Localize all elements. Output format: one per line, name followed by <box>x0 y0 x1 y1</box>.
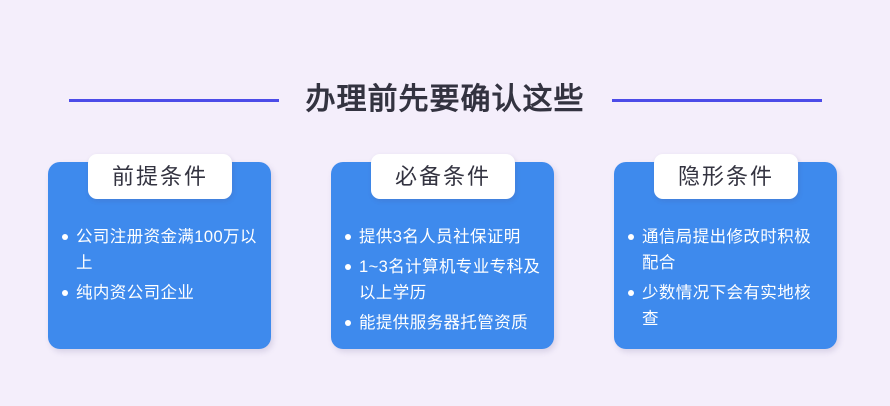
list-item-text: 少数情况下会有实地核查 <box>642 284 811 328</box>
bullet-dot-icon <box>62 290 68 296</box>
condition-card-1: 前提条件 公司注册资金满100万以上 纯内资公司企业 <box>48 162 271 349</box>
card-badge-label: 必备条件 <box>395 166 491 188</box>
list-item: 通信局提出修改时积极配合 <box>628 224 827 276</box>
card-badge-3: 隐形条件 <box>654 154 798 199</box>
condition-card-3: 隐形条件 通信局提出修改时积极配合 少数情况下会有实地核查 <box>614 162 837 349</box>
card-bullet-list-2: 提供3名人员社保证明 1~3名计算机专业专科及以上学历 能提供服务器托管资质 <box>345 224 544 340</box>
title-rule-right <box>612 99 822 102</box>
list-item: 1~3名计算机专业专科及以上学历 <box>345 254 544 306</box>
list-item-text: 1~3名计算机专业专科及以上学历 <box>359 258 540 302</box>
list-item-text: 纯内资公司企业 <box>76 284 194 302</box>
list-item: 纯内资公司企业 <box>62 280 261 306</box>
bullet-dot-icon <box>345 264 351 270</box>
page-title: 办理前先要确认这些 <box>306 85 585 115</box>
card-bullet-list-1: 公司注册资金满100万以上 纯内资公司企业 <box>62 224 261 310</box>
card-badge-label: 隐形条件 <box>678 166 774 188</box>
list-item: 少数情况下会有实地核查 <box>628 280 827 332</box>
list-item-text: 通信局提出修改时积极配合 <box>642 228 811 272</box>
bullet-dot-icon <box>345 320 351 326</box>
bullet-dot-icon <box>62 234 68 240</box>
card-badge-1: 前提条件 <box>88 154 232 199</box>
card-bullet-list-3: 通信局提出修改时积极配合 少数情况下会有实地核查 <box>628 224 827 336</box>
list-item-text: 提供3名人员社保证明 <box>359 228 521 246</box>
condition-card-group: 前提条件 公司注册资金满100万以上 纯内资公司企业 必备条件 <box>48 162 837 349</box>
condition-card-2: 必备条件 提供3名人员社保证明 1~3名计算机专业专科及以上学历 能提供服务器托… <box>331 162 554 349</box>
list-item: 能提供服务器托管资质 <box>345 310 544 336</box>
card-badge-2: 必备条件 <box>371 154 515 199</box>
list-item: 提供3名人员社保证明 <box>345 224 544 250</box>
infographic-stage: 办理前先要确认这些 前提条件 公司注册资金满100万以上 纯内资公司企业 必备条… <box>0 0 890 406</box>
section-header: 办理前先要确认这些 <box>0 72 890 128</box>
bullet-dot-icon <box>628 290 634 296</box>
list-item-text: 公司注册资金满100万以上 <box>76 228 257 272</box>
list-item: 公司注册资金满100万以上 <box>62 224 261 276</box>
bullet-dot-icon <box>628 234 634 240</box>
list-item-text: 能提供服务器托管资质 <box>359 314 528 332</box>
bullet-dot-icon <box>345 234 351 240</box>
title-rule-left <box>69 99 279 102</box>
card-badge-label: 前提条件 <box>112 166 208 188</box>
